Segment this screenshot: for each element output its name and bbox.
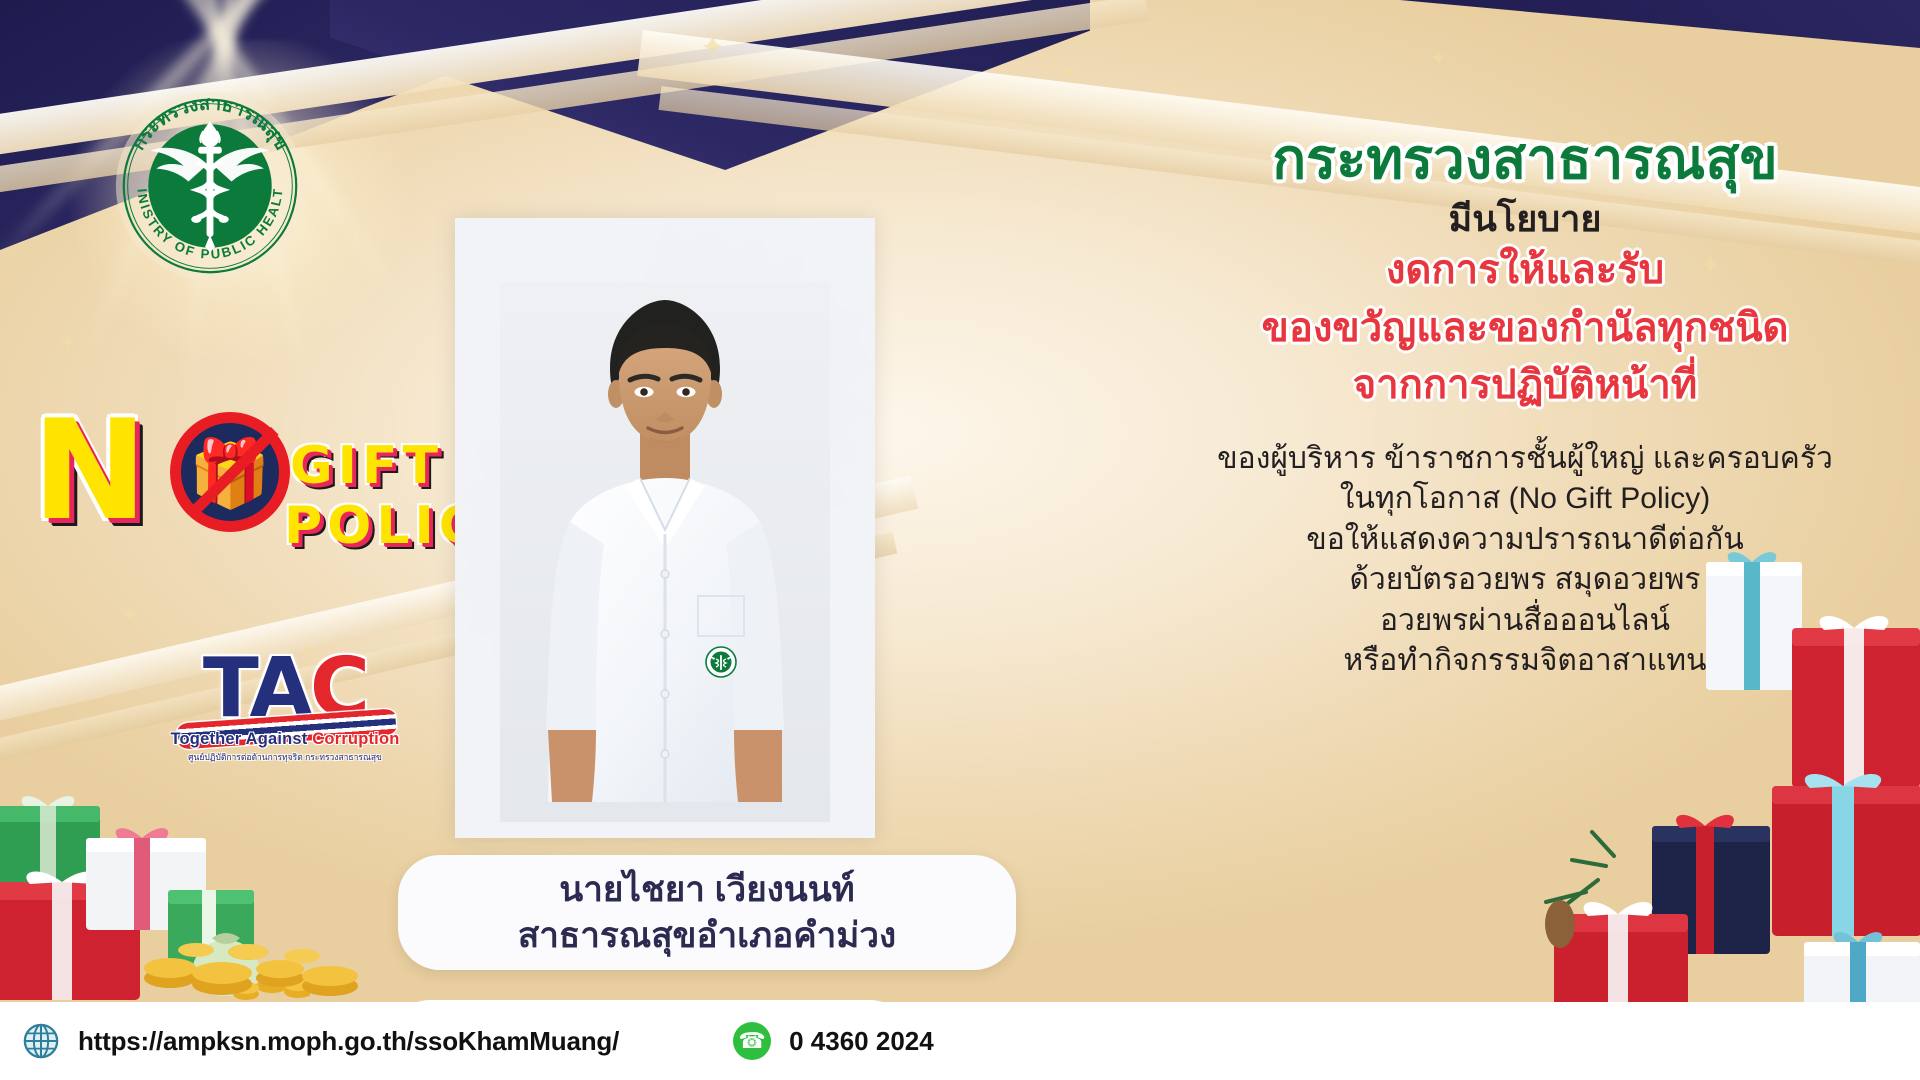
footer-bar: https://ampksn.moph.go.th/ssoKhamMuang/ … — [0, 1002, 1920, 1080]
headline-red-line-1: งดการให้และรับ — [1130, 244, 1920, 298]
gift-box — [1706, 552, 1802, 690]
headline-ministry: กระทรวงสาธารณสุข — [1130, 128, 1920, 191]
person-name: นายไชยา เวียงนนท์ — [559, 867, 854, 913]
pine-cone-icon — [1545, 900, 1575, 948]
sparkle-icon: ✦ — [60, 330, 77, 355]
phone-number[interactable]: 0 4360 2024 — [789, 1026, 934, 1057]
tac-tagline: Together Against Corruption — [170, 730, 400, 749]
portrait-container — [455, 218, 875, 838]
headline-red-line-2: ของขวัญและของกำนัลทุกชนิด — [1130, 302, 1920, 356]
no-gift-policy-logo: N 🎁 GIFT POLICY — [22, 398, 502, 578]
portrait-photo — [500, 282, 830, 822]
ministry-of-public-health-logo: กระทรวงสาธารณสุข MINISTRY OF PUBLIC HEAL… — [112, 88, 308, 284]
person-position: สาธารณสุขอำเภอคำม่วง — [518, 913, 896, 959]
tac-tagline-part1: Together Against — [170, 730, 312, 748]
sparkle-icon: ✦ — [1060, 60, 1078, 86]
banner-canvas: ✦ ✦ ✦ ✦ ✦ ✦ ✦ ✦ กระทรวงสาธารณสุข MINISTR… — [0, 0, 1920, 1080]
no-entry-icon — [170, 412, 290, 532]
phone-icon: ☎ — [733, 1022, 771, 1060]
body-line-2: ในทุกโอกาส (No Gift Policy) — [1130, 479, 1920, 520]
no-gift-word-gift: GIFT — [290, 436, 443, 496]
gift-box — [1772, 774, 1920, 936]
coin-pile — [130, 878, 390, 998]
gift-box — [1792, 616, 1920, 788]
website-url[interactable]: https://ampksn.moph.go.th/ssoKhamMuang/ — [78, 1026, 619, 1057]
sparkle-icon: ✦ — [120, 600, 140, 629]
sparkle-icon: ✦ — [1430, 46, 1447, 71]
headline-red-line-3: จากการปฏิบัติหน้าที่ — [1130, 359, 1920, 413]
headline-policy-label: มีนโยบาย — [1130, 197, 1920, 240]
globe-icon — [22, 1022, 60, 1060]
tac-subtagline: ศูนย์ปฏิบัติการต่อต้านการทุจริต กระทรวงส… — [170, 750, 400, 764]
name-card: นายไชยา เวียงนนท์ สาธารณสุขอำเภอคำม่วง — [398, 855, 1016, 970]
body-line-1: ของผู้บริหาร ข้าราชการชั้นผู้ใหญ่ และครอ… — [1130, 439, 1920, 480]
gift-pile-right — [1400, 520, 1920, 1080]
no-gift-letter-n: N — [32, 402, 150, 540]
tac-tagline-part2: Corruption — [312, 730, 399, 748]
sparkle-icon: ✦ — [700, 30, 725, 65]
